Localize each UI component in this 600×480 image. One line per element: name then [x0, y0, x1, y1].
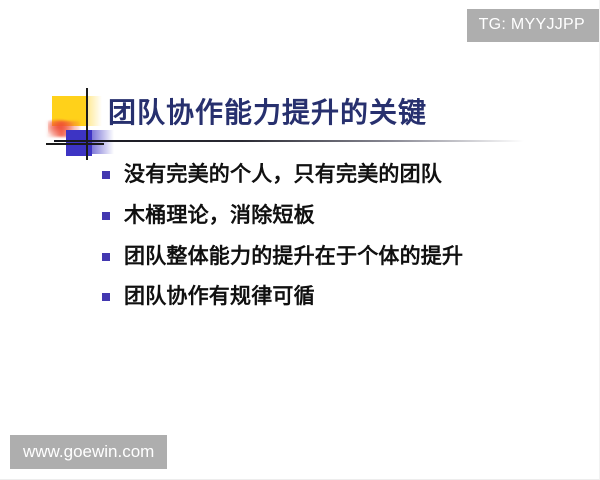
square-bullet-icon — [102, 212, 110, 220]
square-bullet-icon — [102, 171, 110, 179]
bullet-list: 没有完美的个人，只有完美的团队 木桶理论，消除短板 团队整体能力的提升在于个体的… — [102, 160, 572, 323]
site-watermark: www.goewin.com — [10, 435, 167, 469]
slide-canvas: TG: MYYJJPP 团队协作能力提升的关键 没有完美的个人，只有完美的团队 … — [0, 0, 600, 480]
square-bullet-icon — [102, 293, 110, 301]
list-item: 团队整体能力的提升在于个体的提升 — [102, 242, 572, 272]
square-bullet-icon — [102, 253, 110, 261]
list-item: 木桶理论，消除短板 — [102, 201, 572, 231]
ornament-blue-gradient — [84, 130, 114, 154]
bullet-text: 木桶理论，消除短板 — [124, 201, 315, 231]
bullet-text: 团队协作有规律可循 — [124, 282, 315, 312]
bullet-text: 团队整体能力的提升在于个体的提升 — [124, 242, 463, 272]
slide-title: 团队协作能力提升的关键 — [108, 91, 427, 131]
ornament-vertical-line — [86, 88, 88, 160]
list-item: 没有完美的个人，只有完美的团队 — [102, 160, 572, 190]
telegram-watermark-badge: TG: MYYJJPP — [467, 9, 599, 42]
decorative-ornament — [46, 88, 114, 160]
title-divider-rule — [54, 140, 524, 142]
list-item: 团队协作有规律可循 — [102, 282, 572, 312]
ornament-horizontal-line — [46, 143, 104, 145]
bullet-text: 没有完美的个人，只有完美的团队 — [124, 160, 442, 190]
